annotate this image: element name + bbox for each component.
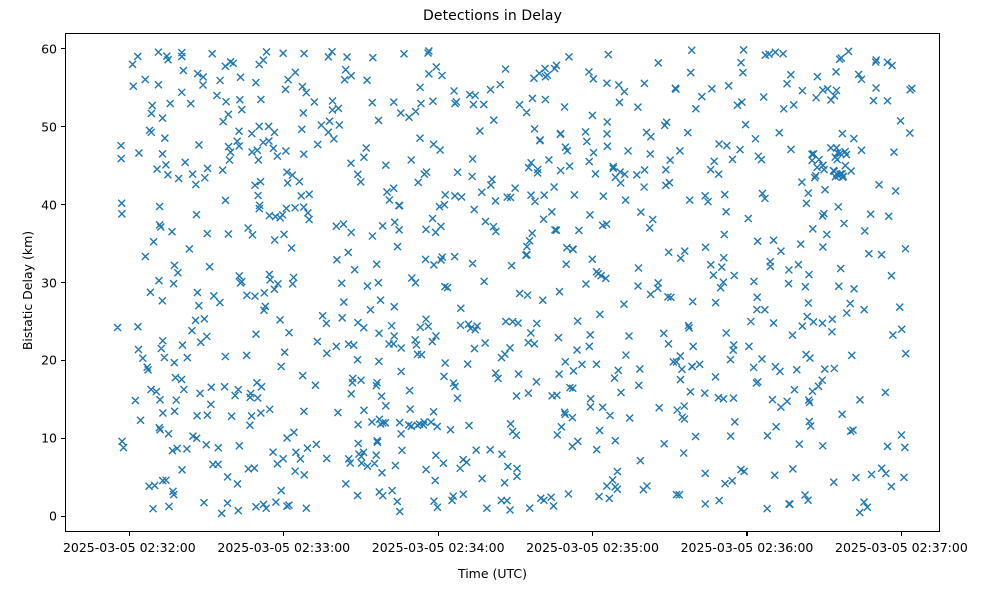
x-tick-mark (901, 532, 902, 536)
x-tick-label: 2025-03-05 02:33:00 (217, 540, 350, 555)
y-tick-mark (61, 360, 65, 361)
chart-title: Detections in Delay (0, 8, 985, 24)
plot-area[interactable] (65, 33, 940, 532)
x-tick-mark (438, 532, 439, 536)
x-tick-label: 2025-03-05 02:37:00 (835, 540, 968, 555)
y-tick-mark (61, 204, 65, 205)
detection-markers (114, 46, 915, 516)
y-tick-mark (61, 516, 65, 517)
x-tick-mark (129, 532, 130, 536)
x-tick-mark (592, 532, 593, 536)
x-tick-mark (746, 532, 747, 536)
figure-canvas: Detections in Delay 0102030405060 2025-0… (0, 0, 985, 590)
y-tick-mark (61, 282, 65, 283)
y-tick-mark (61, 438, 65, 439)
scatter-series (66, 34, 940, 532)
x-axis-label: Time (UTC) (0, 566, 985, 581)
x-tick-label: 2025-03-05 02:36:00 (681, 540, 814, 555)
y-tick-mark (61, 48, 65, 49)
x-tick-label: 2025-03-05 02:35:00 (526, 540, 659, 555)
x-tick-mark (283, 532, 284, 536)
y-axis-label: Bistatic Delay (km) (20, 41, 35, 540)
y-tick-mark (61, 126, 65, 127)
x-tick-label: 2025-03-05 02:34:00 (372, 540, 505, 555)
x-tick-label: 2025-03-05 02:32:00 (63, 540, 196, 555)
